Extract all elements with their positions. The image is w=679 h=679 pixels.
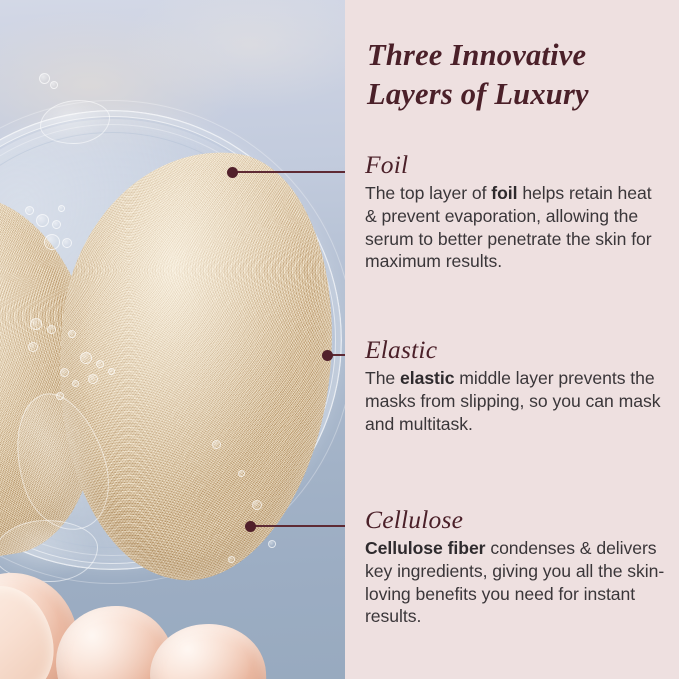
gel-haze-upper-right [120, 0, 345, 110]
bubble [50, 81, 58, 89]
copy-panel: Three Innovative Layers of Luxury Foil T… [345, 0, 679, 679]
section-foil-title: Foil [365, 150, 665, 179]
bubble [56, 392, 64, 400]
bubble [108, 368, 115, 375]
section-cellulose: Cellulose Cellulose fiber condenses & de… [365, 505, 665, 628]
bubble [28, 342, 38, 352]
bubble [96, 360, 104, 368]
bubble [44, 234, 60, 250]
bubble [47, 325, 56, 334]
hand-holding-mask [0, 540, 302, 679]
section-elastic-title: Elastic [365, 335, 665, 364]
bubble [80, 352, 92, 364]
finger-middle [147, 620, 270, 679]
section-elastic-body: The elastic middle layer prevents the ma… [365, 367, 665, 435]
bubble [252, 500, 262, 510]
bubble [212, 440, 221, 449]
bubble [39, 73, 50, 84]
bubble [25, 206, 34, 215]
bubble [36, 214, 49, 227]
section-cellulose-body: Cellulose fiber condenses & delivers key… [365, 537, 665, 627]
bubble [60, 368, 69, 377]
bubble [72, 380, 79, 387]
section-foil-body: The top layer of foil helps retain heat … [365, 182, 665, 272]
product-infographic: Three Innovative Layers of Luxury Foil T… [0, 0, 679, 679]
bubble [88, 374, 98, 384]
bubble [58, 205, 65, 212]
product-photo [0, 0, 345, 679]
section-elastic: Elastic The elastic middle layer prevent… [365, 335, 665, 435]
bubble [68, 330, 76, 338]
section-cellulose-title: Cellulose [365, 505, 665, 534]
section-foil: Foil The top layer of foil helps retain … [365, 150, 665, 273]
bubble [52, 220, 61, 229]
bubble [62, 238, 72, 248]
bubble [238, 470, 245, 477]
bubble [30, 318, 42, 330]
page-title: Three Innovative Layers of Luxury [367, 36, 667, 113]
